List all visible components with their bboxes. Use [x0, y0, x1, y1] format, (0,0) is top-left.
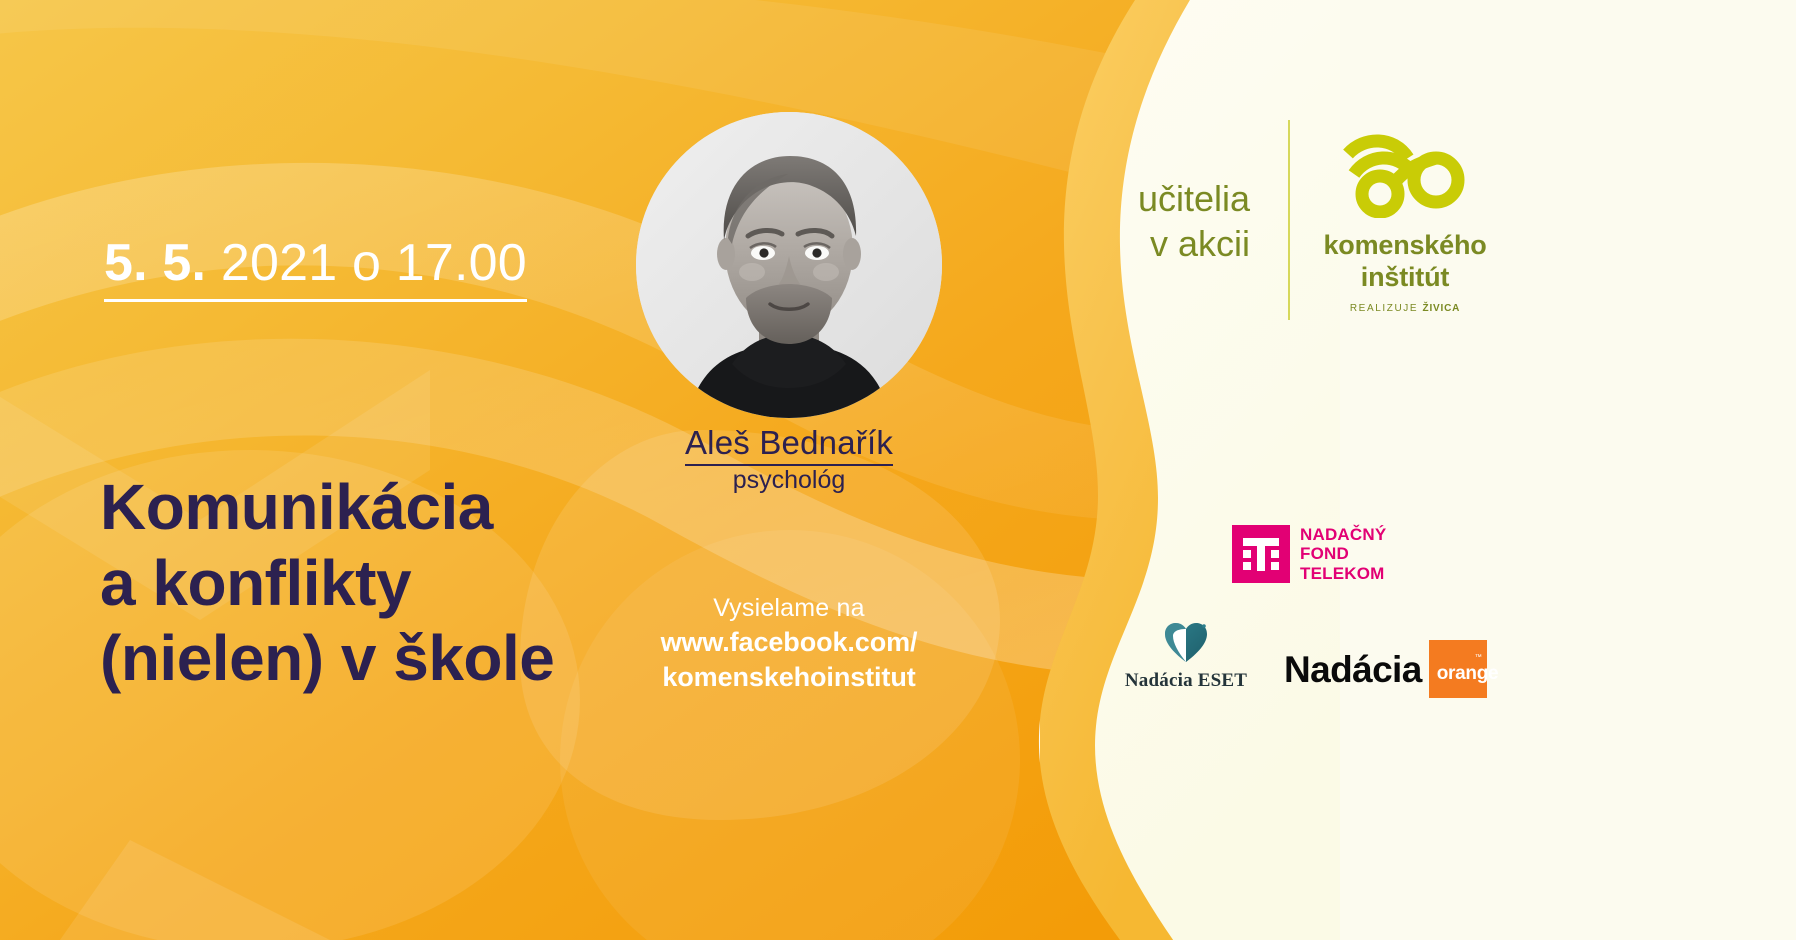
broadcast-url-line-1[interactable]: www.facebook.com/ — [616, 625, 962, 661]
speaker-avatar — [636, 112, 942, 418]
event-date-day: 5. 5. — [104, 234, 206, 292]
page-title-line-3: (nielen) v škole — [100, 621, 554, 697]
speaker-name-text: Aleš Bednařík — [685, 424, 893, 466]
telekom-line-1: NADAČNÝ — [1300, 525, 1386, 544]
campaign-label-line-2: v akcii — [1040, 221, 1250, 266]
broadcast-info: Vysielame na www.facebook.com/ komenskeh… — [616, 592, 962, 696]
infinity-knot-icon — [1340, 132, 1470, 218]
orange-box-label: orange — [1437, 663, 1499, 685]
eset-heart-icon — [1164, 622, 1208, 664]
orange-square-icon: orange ™ — [1429, 640, 1487, 698]
vertical-divider — [1288, 120, 1290, 320]
promo-banner: 5. 5. 2021 o 17.00 Komunikácia a konflik… — [0, 0, 1796, 940]
event-date-time: 2021 o 17.00 — [206, 234, 527, 292]
campaign-label-line-1: učitelia — [1040, 176, 1250, 221]
page-title-line-1: Komunikácia — [100, 470, 554, 546]
sponsor-orange: Nadácia orange ™ — [1284, 640, 1487, 698]
campaign-label: učitelia v akcii — [1040, 176, 1250, 266]
institute-name-line-2: inštitút — [1310, 262, 1500, 294]
institute-tagline-prefix: REALIZUJE — [1350, 303, 1423, 314]
institute-tagline-brand: ŽIVICA — [1423, 303, 1461, 314]
event-date: 5. 5. 2021 o 17.00 — [104, 236, 527, 302]
telekom-t-icon — [1232, 525, 1290, 583]
telekom-line-2: FOND — [1300, 544, 1386, 563]
broadcast-lead: Vysielame na — [616, 592, 962, 625]
speaker-name: Aleš Bednařík — [636, 424, 942, 462]
orange-wordmark: Nadácia — [1284, 651, 1422, 688]
orange-trademark: ™ — [1475, 654, 1482, 661]
telekom-t-squares — [1232, 525, 1290, 583]
sponsor-telekom: NADAČNÝ FOND TELEKOM — [1232, 525, 1386, 583]
telekom-line-3: TELEKOM — [1300, 564, 1386, 583]
page-title-line-2: a konflikty — [100, 546, 554, 622]
portrait-photo-icon — [636, 112, 942, 418]
sponsor-eset: Nadácia ESET — [1122, 622, 1250, 692]
institute-name-line-1: komenského — [1310, 230, 1500, 262]
page-title: Komunikácia a konflikty (nielen) v škole — [100, 470, 554, 697]
eset-wordmark: Nadácia ESET — [1122, 670, 1250, 692]
institute-logo: komenského inštitút REALIZUJE ŽIVICA — [1310, 132, 1500, 314]
institute-tagline: REALIZUJE ŽIVICA — [1310, 303, 1500, 314]
speaker-role: psychológ — [636, 466, 942, 495]
telekom-wordmark: NADAČNÝ FOND TELEKOM — [1300, 525, 1386, 583]
institute-name: komenského inštitút — [1310, 230, 1500, 294]
broadcast-url-line-2[interactable]: komenskehoinstitut — [616, 660, 962, 696]
